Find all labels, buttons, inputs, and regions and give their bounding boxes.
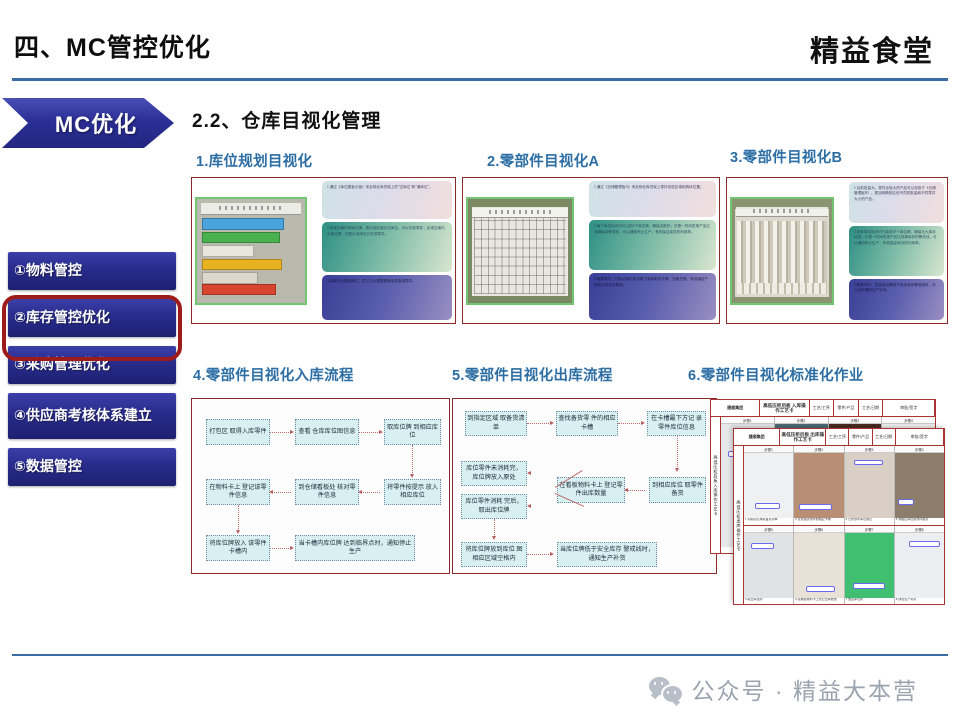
board-caption-strip xyxy=(201,203,300,215)
flow-node: 库位零件未消耗完， 库位牌放入原处 xyxy=(461,461,527,486)
step-label: 步骤4 xyxy=(895,446,944,453)
doc-meta: 零件/产品 xyxy=(849,429,872,445)
callout-2: 2.此种库位标识内只能放18个库位牌，确保无大库存信息；在第一时间发现产品达到满… xyxy=(849,226,944,276)
flow-node: 库位零件消耗 完后，取出库位牌 xyxy=(461,494,527,519)
flow-node: 取库位牌 到相应库位 xyxy=(384,419,441,445)
footer-divider xyxy=(12,654,948,656)
step-caption: 8.通知生产补货 xyxy=(895,598,944,605)
step-label: 步骤5 xyxy=(744,526,793,533)
wechat-icon xyxy=(649,677,683,701)
flow-node: 在物料卡上 登记该零件信息 xyxy=(206,479,270,505)
flow-node: 查看 仓库库位图信息 xyxy=(295,419,359,445)
step-label: 步骤6 xyxy=(794,526,843,533)
doc-title: 高低压柜后板 出库操作工艺卡 xyxy=(780,429,826,445)
sidebar-item-label: ②库存管控优化 xyxy=(14,309,110,327)
flowchart-inbound: 打包区 取得入库零件 查看 仓库库位图信息 取库位牌 到相应库位 在物料卡上 登… xyxy=(191,398,450,574)
doc-meta: 审批/签字 xyxy=(896,429,944,445)
doc-step-cell: 步骤1 1.到指定区域取备货清单 xyxy=(744,446,794,525)
sidebar-item-purchasing-management[interactable]: ③采购管理优化 xyxy=(8,346,176,384)
callout-1: 1.通过《库位图板示板》来反映仓库货架上的"空库位"和"满库位"。 xyxy=(322,181,452,219)
step-photo xyxy=(744,533,793,598)
chevron-banner: MC优化 xyxy=(2,98,174,148)
step-label: 步骤1 xyxy=(721,417,774,424)
step-label: 步骤7 xyxy=(845,526,894,533)
callout-1: 1.目前批量大、零件比较大的产品可以存放于《仓储管理板B》，更加明确的区划不同的… xyxy=(849,182,944,223)
doc-outbound-work-instruction: 捷顺集团 高低压柜后板 出库操作工艺卡 工艺/工序 零件/产品 工艺/日期 审批… xyxy=(733,428,945,605)
step-caption: 3.记录零件库位信息 xyxy=(845,518,894,525)
doc-meta: 工艺/日期 xyxy=(859,400,884,416)
doc-step-cell: 步骤6 6.在看板物料卡上登记出库数量 xyxy=(794,526,844,605)
doc-meta: 审批/签字 xyxy=(883,400,935,416)
photo-storage-board-a xyxy=(466,197,574,305)
sidebar-item-data-control[interactable]: ⑤数据管控 xyxy=(8,448,176,486)
doc-step-cell: 步骤8 8.通知生产补货 xyxy=(895,526,944,605)
callout-3: 3.取零件时，只能从库位标识最下面拿取内长牌、先取先做，有效保证产品的先进先出原… xyxy=(589,273,716,320)
section-2-heading: 2.零部件目视化A xyxy=(487,150,599,171)
slot-board-graphic xyxy=(735,209,829,297)
doc-meta: 工艺/工序 xyxy=(826,429,849,445)
section-6-heading: 6.零部件目视化标准化作业 xyxy=(688,364,864,385)
panel-parts-visual-a: 1.通过《仓储管理板A》来反映仓库货架上零件存放区域和具体位置。 2.每个库位标… xyxy=(462,177,720,324)
flow-node: 到指定区域 取备货清单 xyxy=(465,411,527,436)
flow-node: 到仓储看板处 核对零件信息 xyxy=(295,479,359,505)
section-4-heading: 4.零部件目视化入库流程 xyxy=(193,364,354,385)
sidebar-item-label: ④供应商考核体系建立 xyxy=(14,407,152,425)
step-label: 步骤4 xyxy=(882,417,935,424)
step-label: 步骤3 xyxy=(845,446,894,453)
step-label: 步骤2 xyxy=(775,417,828,424)
flow-node: 打包区 取得入库零件 xyxy=(206,419,270,445)
photo-storage-board-b xyxy=(730,197,834,305)
step-label: 步骤3 xyxy=(829,417,882,424)
sidebar-item-label: ①物料管控 xyxy=(14,262,82,280)
chevron-label: MC优化 xyxy=(39,107,137,139)
doc-step-cell: 步骤4 4.到相应库位取零件备货 xyxy=(895,446,944,525)
step-label: 步骤2 xyxy=(794,446,843,453)
photo-location-map-board xyxy=(195,197,307,305)
flow-node: 当库位牌低于安全库存 警戒线时，通知生产补货 xyxy=(557,542,657,567)
step-caption: 2.查找备货零件的相应卡槽 xyxy=(794,518,843,525)
callout-2: 2.每个库位标识内可以贴6个库位牌，确保无断货；在第一时间发现产品达到满库存警戒… xyxy=(589,220,716,271)
step-caption: 7.放回库位牌 xyxy=(845,598,894,605)
step-label: 步骤1 xyxy=(744,446,793,453)
flow-node: 将库位牌放到库位 图相应区域空格内 xyxy=(461,542,527,567)
flow-node: 将库位牌放入 该零件卡槽内 xyxy=(206,535,270,561)
header-divider xyxy=(12,78,948,81)
sidebar-item-material-control[interactable]: ①物料管控 xyxy=(8,252,176,290)
callout-3: 3.取零件时，发现库位牌低于安全库存警戒线时，可以及时通知生产补货。 xyxy=(849,279,944,320)
step-label: 步骤8 xyxy=(895,526,944,533)
flow-node: 当卡槽内库位牌 达到临界点时，通知停止生产 xyxy=(295,535,415,561)
section-1-heading: 1.库位规划目视化 xyxy=(196,150,312,171)
sidebar: ①物料管控 ②库存管控优化 ③采购管理优化 ④供应商考核体系建立 ⑤数据管控 xyxy=(8,252,176,495)
sidebar-item-supplier-assessment[interactable]: ④供应商考核体系建立 xyxy=(8,393,176,439)
step-photo xyxy=(794,453,843,518)
page-title: 四、MC管控优化 xyxy=(14,28,211,64)
step-caption: 4.到相应库位取零件备货 xyxy=(895,518,944,525)
company-logo: 捷顺集团 xyxy=(711,400,760,416)
step-photo xyxy=(895,533,944,598)
doc-side-label: 高低压柜出库操作工艺卡 xyxy=(734,446,744,605)
callout-stack-2: 1.通过《仓储管理板A》来反映仓库货架上零件存放区域和具体位置。 2.每个库位标… xyxy=(578,181,716,320)
flow-node: 查找备货零 件的相应卡槽 xyxy=(556,411,618,436)
sidebar-item-label: ③采购管理优化 xyxy=(14,356,110,374)
section-subtitle: 2.2、仓库目视化管理 xyxy=(192,106,381,133)
doc-step-cell: 步骤3 3.记录零件库位信息 xyxy=(845,446,895,525)
panel-parts-visual-b: 1.目前批量大、零件比较大的产品可以存放于《仓储管理板B》，更加明确的区划不同的… xyxy=(726,177,948,324)
callout-3: 3.该库位为随机库位，员工可以根据看板信息取用零件。 xyxy=(322,275,452,320)
sidebar-item-inventory-control[interactable]: ②库存管控优化 xyxy=(8,299,176,337)
doc-header: 捷顺集团 高低压柜后板 出库操作工艺卡 工艺/工序 零件/产品 工艺/日期 审批… xyxy=(734,429,944,446)
footer: 公众号 · 精益大本营 xyxy=(649,672,918,706)
doc-meta: 工艺/工序 xyxy=(810,400,835,416)
flowchart-outbound: 到指定区域 取备货清单 查找备货零 件的相应卡槽 在卡槽最下方记 录零件库位信息… xyxy=(452,398,717,574)
doc-meta: 工艺/日期 xyxy=(873,429,896,445)
brand-title: 精益食堂 xyxy=(810,28,934,70)
flow-node: 将零件按提示 放入相应库位 xyxy=(384,479,441,505)
step-caption: 1.到指定区域取备货清单 xyxy=(744,518,793,525)
step-photo xyxy=(744,453,793,518)
callout-2: 2.区域空格内有库位牌，表示该区域为空库位，可以存放零件；区域空格内无库位牌，则… xyxy=(322,222,452,273)
footer-text: 公众号 · 精益大本营 xyxy=(692,672,918,706)
flow-node: 在卡槽最下方记 录零件库位信息 xyxy=(647,411,706,436)
grid-board-graphic xyxy=(472,207,568,296)
section-5-heading: 5.零部件目视化出库流程 xyxy=(452,364,613,385)
doc-step-cell: 步骤2 2.查找备货零件的相应卡槽 xyxy=(794,446,844,525)
doc-side-label: 高低压柜后板入库操作工艺卡 xyxy=(711,417,721,554)
doc-header: 捷顺集团 高低压柜后板 入库操作工艺卡 工艺/工序 零件/产品 工艺/日期 审批… xyxy=(711,400,935,417)
callout-1: 1.通过《仓储管理板A》来反映仓库货架上零件存放区域和具体位置。 xyxy=(589,181,716,217)
step-photo xyxy=(845,533,894,598)
step-caption: 6.在看板物料卡上登记出库数量 xyxy=(794,598,843,605)
doc-meta: 零件/产品 xyxy=(834,400,859,416)
company-logo: 捷顺集团 xyxy=(734,429,780,445)
callout-stack-3: 1.目前批量大、零件比较大的产品可以存放于《仓储管理板B》，更加明确的区划不同的… xyxy=(838,181,944,320)
step-photo xyxy=(895,453,944,518)
sidebar-item-label: ⑤数据管控 xyxy=(14,458,82,476)
step-caption: 5.取出库位牌 xyxy=(744,598,793,605)
step-photo xyxy=(794,533,843,598)
doc-step-cell: 步骤7 7.放回库位牌 xyxy=(845,526,895,605)
step-photo xyxy=(845,453,894,518)
flow-node: 到相应库位 取零件备货 xyxy=(649,477,706,503)
doc-step-cell: 步骤5 5.取出库位牌 xyxy=(744,526,794,605)
doc-title: 高低压柜后板 入库操作工艺卡 xyxy=(760,400,809,416)
section-3-heading: 3.零部件目视化B xyxy=(730,146,842,167)
slide: 四、MC管控优化 精益食堂 MC优化 2.2、仓库目视化管理 ①物料管控 ②库存… xyxy=(0,0,960,720)
callout-stack-1: 1.通过《库位图板示板》来反映仓库货架上的"空库位"和"满库位"。 2.区域空格… xyxy=(311,181,452,320)
panel-location-planning: 1.通过《库位图板示板》来反映仓库货架上的"空库位"和"满库位"。 2.区域空格… xyxy=(191,177,456,324)
